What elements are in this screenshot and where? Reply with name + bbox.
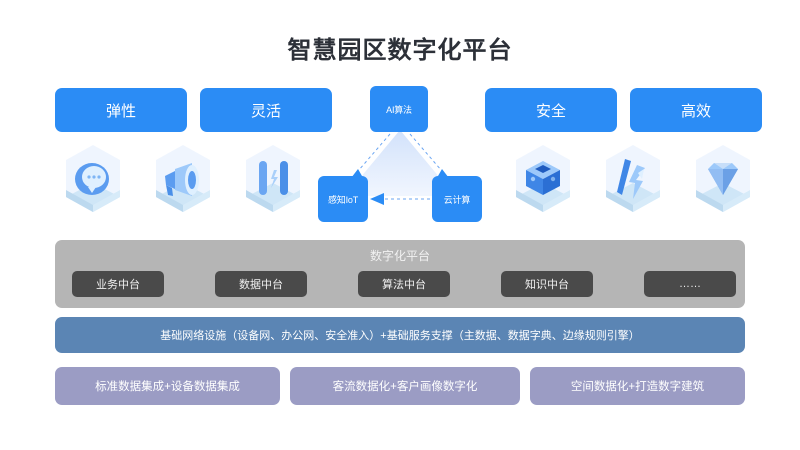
triangle-node-iot[interactable]: 感知IoT [318,176,368,222]
application-box-label: 空间数据化+打造数字建筑 [571,378,704,394]
cube-box-icon [508,143,578,217]
triangle-node-ai[interactable]: AI算法 [370,86,428,132]
application-box-spatial-digital[interactable]: 空间数据化+打造数字建筑 [530,367,745,405]
capability-pill-label: 弹性 [106,100,136,121]
capability-pill-label: 安全 [536,100,566,121]
platform-panel-title: 数字化平台 [55,247,745,264]
triangle-node-label: 感知IoT [328,193,358,206]
middle-office-label: 业务中台 [96,276,140,292]
middle-office-more[interactable]: …… [644,271,736,297]
middle-office-label: …… [679,278,701,290]
capability-pill-elastic[interactable]: 弹性 [55,88,187,132]
capability-pill-efficient[interactable]: 高效 [630,88,762,132]
application-box-customer-flow[interactable]: 客流数据化+客户画像数字化 [290,367,520,405]
capability-pill-secure[interactable]: 安全 [485,88,617,132]
capability-pill-flexible[interactable]: 灵活 [200,88,332,132]
application-box-data-integration[interactable]: 标准数据集成+设备数据集成 [55,367,280,405]
diamond-gem-icon [688,143,758,217]
middle-office-algorithm[interactable]: 算法中台 [358,271,450,297]
bar-chart-icon [238,143,308,217]
infrastructure-label: 基础网络设施（设备网、办公网、安全准入）+基础服务支撑（主数据、数据字典、边缘规… [160,327,639,343]
page-title: 智慧园区数字化平台 [0,30,800,65]
middle-office-label: 算法中台 [382,276,426,292]
middle-office-label: 知识中台 [525,276,569,292]
triangle-node-label: AI算法 [386,103,412,116]
middle-office-business[interactable]: 业务中台 [72,271,164,297]
tech-triangle-diagram: AI算法 感知IoT 云计算 [318,86,482,222]
megaphone-icon [148,143,218,217]
triangle-node-cloud[interactable]: 云计算 [432,176,482,222]
triangle-node-label: 云计算 [444,193,470,206]
middle-office-data[interactable]: 数据中台 [215,271,307,297]
middle-office-label: 数据中台 [239,276,283,292]
digital-platform-panel: 数字化平台 业务中台 数据中台 算法中台 知识中台 …… [55,240,745,308]
capability-pill-label: 灵活 [251,100,281,121]
application-box-label: 客流数据化+客户画像数字化 [333,378,478,394]
middle-office-knowledge[interactable]: 知识中台 [501,271,593,297]
capability-pill-label: 高效 [681,100,711,121]
lightning-bolt-icon [598,143,668,217]
chat-bubble-icon [58,143,128,217]
application-box-label: 标准数据集成+设备数据集成 [95,378,240,394]
infrastructure-bar: 基础网络设施（设备网、办公网、安全准入）+基础服务支撑（主数据、数据字典、边缘规… [55,317,745,353]
